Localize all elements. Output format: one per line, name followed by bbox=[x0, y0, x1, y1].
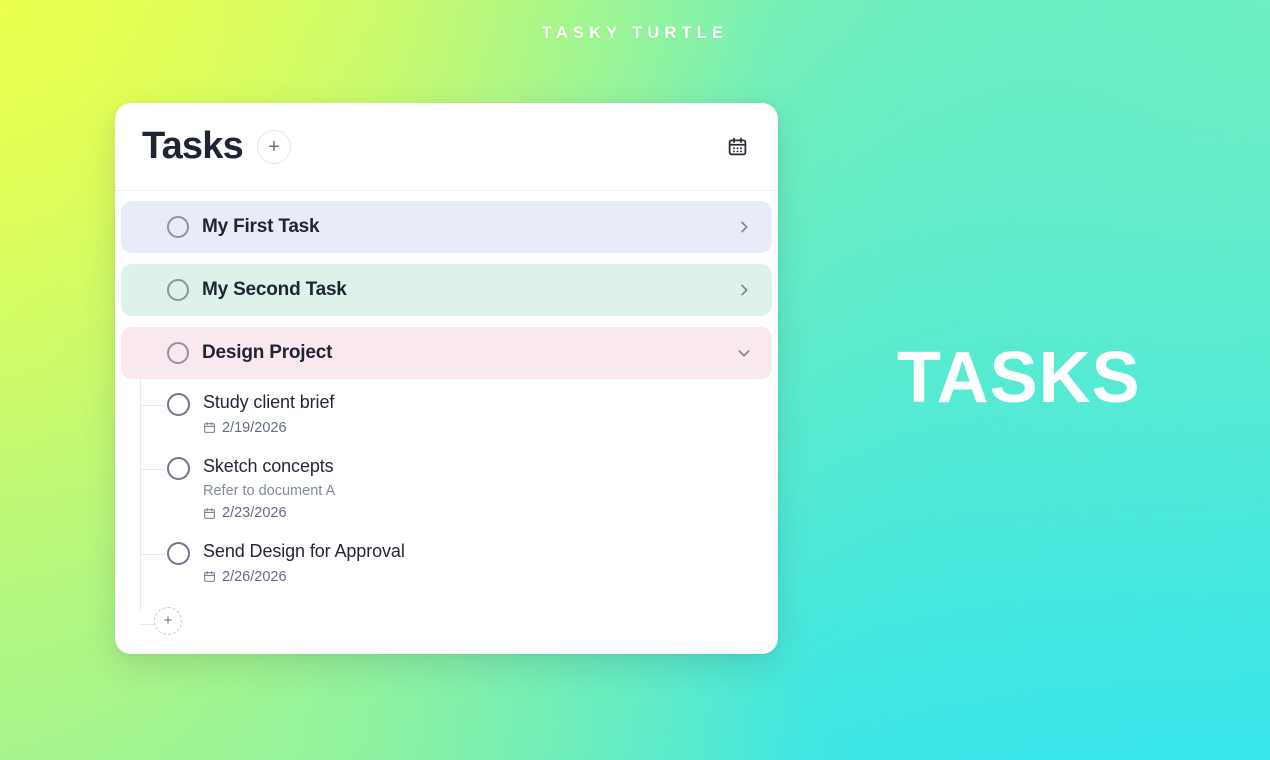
task-row[interactable]: Design Project bbox=[121, 327, 772, 379]
task-checkbox[interactable] bbox=[167, 279, 189, 301]
page-title: Tasks bbox=[142, 125, 243, 168]
chevron-right-icon bbox=[736, 219, 752, 235]
plus-icon: + bbox=[268, 137, 280, 157]
due-date-text: 2/19/2026 bbox=[222, 420, 287, 436]
expand-toggle[interactable] bbox=[736, 219, 752, 235]
calendar-icon bbox=[727, 136, 748, 157]
add-task-button[interactable]: + bbox=[257, 130, 291, 164]
plus-icon: + bbox=[164, 613, 173, 628]
chevron-down-icon bbox=[736, 345, 752, 361]
subtask-due-date: 2/19/2026 bbox=[203, 420, 334, 436]
task-checkbox[interactable] bbox=[167, 216, 189, 238]
subtask-due-date: 2/23/2026 bbox=[203, 505, 335, 521]
calendar-icon bbox=[203, 570, 216, 583]
task-label: My First Task bbox=[202, 216, 319, 238]
task-row[interactable]: My First Task bbox=[121, 201, 772, 253]
task-label: My Second Task bbox=[202, 279, 347, 301]
tree-branch-line bbox=[140, 405, 166, 406]
subtask-body: Study client brief 2/19/2026 bbox=[203, 391, 334, 436]
subtask-title: Sketch concepts bbox=[203, 455, 335, 478]
subtask-body: Send Design for Approval 2/26/202 bbox=[203, 540, 405, 585]
tasks-card: Tasks + bbox=[115, 103, 778, 654]
app-background: TASKY TURTLE TASKS Tasks + bbox=[0, 0, 1270, 760]
due-date-text: 2/26/2026 bbox=[222, 569, 287, 585]
subtask-title: Send Design for Approval bbox=[203, 540, 405, 563]
subtask-item[interactable]: Send Design for Approval 2/26/202 bbox=[121, 540, 772, 585]
subtask-item[interactable]: Sketch concepts Refer to document A bbox=[121, 455, 772, 522]
add-subtask-button[interactable]: + bbox=[154, 607, 182, 635]
tree-branch-line bbox=[140, 469, 166, 470]
tree-branch-line bbox=[140, 554, 166, 555]
task-label: Design Project bbox=[202, 342, 332, 364]
card-header: Tasks + bbox=[115, 103, 778, 191]
due-date-text: 2/23/2026 bbox=[222, 505, 287, 521]
task-checkbox[interactable] bbox=[167, 342, 189, 364]
collapse-toggle[interactable] bbox=[736, 345, 752, 361]
page-headline: TASKS bbox=[897, 342, 1141, 414]
task-row[interactable]: My Second Task bbox=[121, 264, 772, 316]
subtask-note: Refer to document A bbox=[203, 483, 335, 499]
brand-title: TASKY TURTLE bbox=[0, 0, 1270, 66]
subtask-checkbox[interactable] bbox=[167, 542, 190, 565]
calendar-icon bbox=[203, 507, 216, 520]
chevron-right-icon bbox=[736, 282, 752, 298]
calendar-view-button[interactable] bbox=[722, 132, 752, 162]
task-list: My First Task My Second Task bbox=[115, 191, 778, 644]
subtask-item[interactable]: Study client brief 2/19/2026 bbox=[121, 391, 772, 436]
calendar-icon bbox=[203, 421, 216, 434]
subtask-checkbox[interactable] bbox=[167, 457, 190, 480]
subtask-list: Study client brief 2/19/2026 bbox=[121, 379, 772, 644]
subtask-title: Study client brief bbox=[203, 391, 334, 414]
expand-toggle[interactable] bbox=[736, 282, 752, 298]
subtask-due-date: 2/26/2026 bbox=[203, 569, 405, 585]
subtask-body: Sketch concepts Refer to document A bbox=[203, 455, 335, 522]
subtask-checkbox[interactable] bbox=[167, 393, 190, 416]
add-subtask-row[interactable]: + bbox=[121, 604, 772, 644]
